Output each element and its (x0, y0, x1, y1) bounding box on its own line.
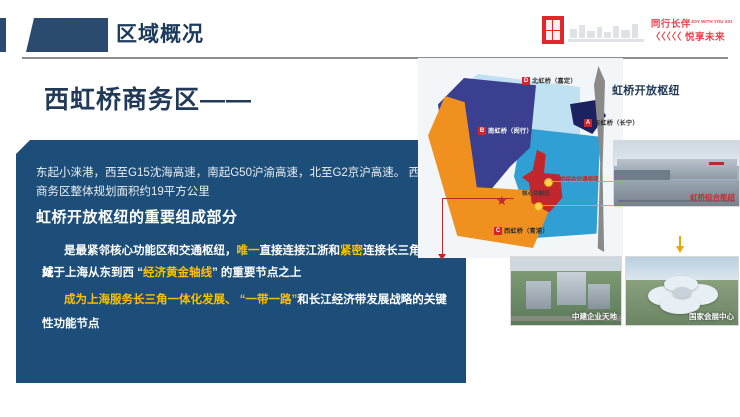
slogan-sup: JOY WITH YOU XXI (691, 19, 732, 24)
photo-caption-cscec-plaza: 中建企业天地 (572, 311, 617, 322)
company-seal-icon (542, 16, 564, 44)
slogan-line2: 悦享未来 (685, 32, 725, 43)
photo-neccis: 国家会展中心 (625, 256, 739, 326)
bullet2-part-a: 处于上海从东到西 “ (42, 267, 143, 279)
slogan-line1: 同行长伴 (651, 20, 691, 31)
panel-bullet-3: 成为上海服务长三角一体化发展、 “一带一路”和长江经济带发展战略的关键性功能节点 (42, 288, 452, 336)
map-connector-arrowhead (438, 254, 446, 260)
map-label-a-text: 东虹桥（长宁） (594, 118, 639, 127)
map-dot-transport-hub (544, 178, 553, 187)
orange-pointer-arrow-icon (676, 246, 684, 253)
brand-slogan: 同行长伴JOY WITH YOU XXI 〈〈〈〈〈 悦享未来 (651, 16, 732, 43)
map-tag-d: D (522, 77, 530, 85)
map-callout-text-1: 虹桥综合交通枢纽 (554, 175, 599, 183)
hub-title: 虹桥开放枢纽 (612, 82, 680, 98)
photo-caption-neccis: 国家会展中心 (689, 311, 734, 322)
map-tag-b: B (478, 127, 486, 135)
slogan-chevrons: 〈〈〈〈〈 (651, 32, 682, 43)
header-title: 区域概况 (116, 19, 204, 51)
brand-cluster: 同行长伴JOY WITH YOU XXI 〈〈〈〈〈 悦享未来 (542, 13, 732, 47)
bullet3-part-a: 成为上海服务长三角一体化发展、 “一带一路” (64, 294, 297, 306)
panel-bullet-2: 处于上海从东到西 “经济黄金轴线” 的重要节点之上 (42, 262, 452, 284)
bullet1-part-c: 直接连接江浙和 (260, 245, 341, 257)
bullet1-part-d: 紧密 (340, 245, 363, 257)
map-label-c: C 西虹桥（青浦） (494, 226, 549, 235)
page-title: 西虹桥商务区—— (44, 80, 252, 116)
map-callout-text-2: 核心功能区 (522, 189, 550, 197)
map-tag-c: C (494, 227, 502, 235)
map-star-marker: ★ (496, 194, 508, 207)
orange-pointer-stem (679, 236, 681, 247)
bullet3-part-b: 和长江经济带发展战略 (297, 294, 412, 306)
photo-hongqiao-hub: 虹桥综合枢纽 (613, 140, 740, 207)
map-tag-a: A (584, 119, 592, 127)
bullet2-part-b: 经济黄金轴线 (143, 267, 212, 279)
photo-caption-hongqiao-hub: 虹桥综合枢纽 (690, 192, 735, 203)
bullet1-part-b: 唯一 (237, 245, 260, 257)
map-label-b-text: 南虹桥（闵行） (488, 126, 533, 135)
bullet2-part-c: ” 的重要节点之上 (212, 267, 301, 279)
bullet1-part-a: 是最紧邻核心功能区和交通枢纽， (64, 245, 237, 257)
slide-root: 区域概况 同行长伴JOY WITH YOU XXI 〈〈〈〈〈 悦享未来 (0, 0, 740, 417)
info-panel: 东起小涞港，西至G15沈海高速，南起G50沪渝高速，北至G2京沪高速。 西虹桥商… (16, 140, 466, 383)
panel-subtitle: 虹桥开放枢纽的重要组成部分 (36, 206, 238, 227)
map-label-b: B 南虹桥（闵行） (478, 126, 533, 135)
map-dot-core-zone (534, 202, 543, 211)
photo-cscec-plaza: 中建企业天地 (510, 256, 622, 326)
map-label-a: A 东虹桥（长宁） (584, 118, 639, 127)
map-connector-horizontal (442, 198, 514, 199)
map-label-c-text: 西虹桥（青浦） (504, 226, 549, 235)
region-map: D 北虹桥（嘉定） B 南虹桥（闵行） A 东虹桥（长宁） C 西虹桥（青浦） … (418, 58, 623, 258)
skyline-graphic-icon (568, 18, 644, 42)
slide-header: 区域概况 同行长伴JOY WITH YOU XXI 〈〈〈〈〈 悦享未来 (0, 0, 740, 62)
map-label-d-text: 北虹桥（嘉定） (532, 76, 577, 85)
header-accent-tick (0, 18, 6, 52)
map-connector-vertical (442, 198, 443, 256)
panel-lead-text: 东起小涞港，西至G15沈海高速，南起G50沪渝高速，北至G2京沪高速。 西虹桥商… (36, 164, 448, 202)
map-label-d: D 北虹桥（嘉定） (522, 76, 577, 85)
header-accent-block (26, 18, 108, 52)
